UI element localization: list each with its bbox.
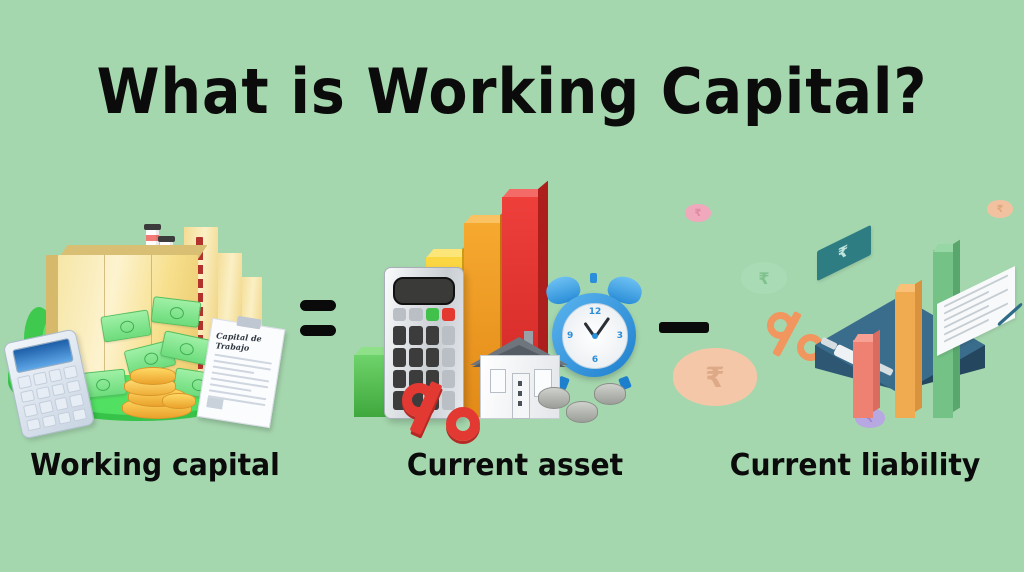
coin-icon: ₹	[987, 200, 1013, 218]
currency-symbol: ₹	[673, 348, 757, 406]
working-capital-illustration: Capital de Trabajo	[6, 195, 296, 435]
current-asset-illustration: 12 3 6 9	[350, 185, 640, 435]
equals-operator	[300, 300, 336, 342]
currency-symbol: ₹	[685, 204, 711, 222]
coin-icon	[594, 383, 626, 405]
bar-chart-bar	[853, 340, 873, 418]
bar-chart-bar	[354, 355, 388, 417]
currency-symbol: ₹	[835, 241, 851, 265]
poster-canvas: What is Working Capital?	[0, 0, 1024, 572]
clock-numeral: 6	[592, 355, 598, 365]
banknote-icon: ₹	[817, 225, 871, 281]
percent-sign-icon	[402, 381, 478, 435]
currency-symbol: ₹	[741, 262, 787, 294]
current-liability-illustration: ₹ ₹ ₹ ₹ ₹ ₹	[665, 190, 1020, 440]
coin-icon	[566, 401, 598, 423]
working-capital-document: Capital de Trabajo	[197, 318, 286, 428]
currency-symbol: ₹	[987, 200, 1013, 218]
clock-numeral: 12	[589, 307, 602, 317]
label-current-liability: Current liability	[700, 448, 1010, 483]
gold-coin-stack-icon	[118, 363, 194, 415]
label-current-asset: Current asset	[374, 448, 656, 483]
clock-numeral: 3	[617, 331, 623, 341]
document-signature-block	[206, 397, 223, 409]
bar-chart-bar	[895, 290, 915, 418]
coin-icon: ₹	[673, 348, 757, 406]
label-working-capital: Working capital	[9, 448, 300, 483]
coin-icon	[538, 387, 570, 409]
coin-icon: ₹	[685, 204, 711, 222]
coin-icon: ₹	[741, 262, 787, 294]
page-title: What is Working Capital?	[41, 56, 983, 128]
